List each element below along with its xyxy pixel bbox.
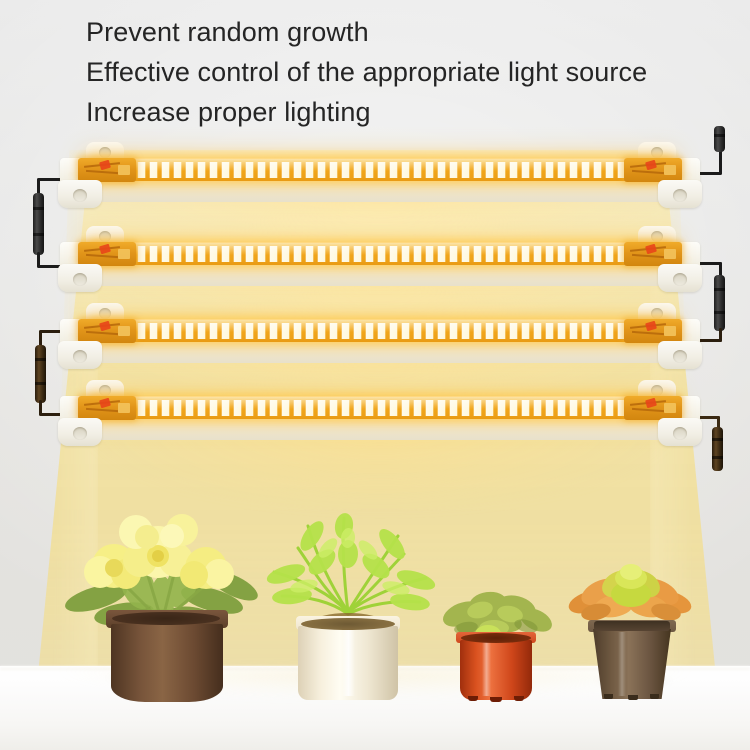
led-bar-1[interactable]	[60, 150, 700, 212]
plant-pot	[588, 620, 676, 702]
led-bar-4[interactable]	[60, 388, 700, 450]
led-bar-3[interactable]	[60, 311, 700, 373]
mount-tab-left	[58, 264, 102, 292]
headline-block: Prevent random growth Effective control …	[86, 12, 736, 132]
led-strip	[90, 320, 670, 342]
mount-tab-left	[58, 341, 102, 369]
plant-small-leafy	[436, 566, 556, 702]
end-cap-right	[624, 242, 682, 266]
mount-tab-left	[58, 180, 102, 208]
led-highlight	[90, 243, 670, 265]
led-highlight	[90, 159, 670, 181]
headline-line-3: Increase proper lighting	[86, 92, 736, 132]
mount-tab-right	[658, 180, 702, 208]
mount-tab-right	[658, 341, 702, 369]
led-highlight	[90, 320, 670, 342]
led-bar-2[interactable]	[60, 234, 700, 296]
led-strip	[90, 397, 670, 419]
mount-tab-right	[658, 264, 702, 292]
product-image: Prevent random growth Effective control …	[0, 0, 750, 750]
led-highlight	[90, 397, 670, 419]
led-strip	[90, 243, 670, 265]
end-cap-right	[624, 396, 682, 420]
mount-tab-left	[58, 418, 102, 446]
plant-pot	[456, 632, 536, 702]
headline-line-1: Prevent random growth	[86, 12, 736, 52]
headline-line-2: Effective control of the appropriate lig…	[86, 52, 736, 92]
end-cap-left	[78, 242, 136, 266]
plant-pot	[106, 610, 228, 702]
end-cap-left	[78, 319, 136, 343]
end-cap-left	[78, 158, 136, 182]
plant-yellow-flowering	[62, 490, 272, 700]
end-cap-left	[78, 396, 136, 420]
plant-succulent	[566, 552, 696, 702]
end-cap-right	[624, 319, 682, 343]
led-strip	[90, 159, 670, 181]
mount-tab-right	[658, 418, 702, 446]
plant-pot	[296, 616, 400, 700]
end-cap-right	[624, 158, 682, 182]
plant-green-fern	[258, 492, 438, 698]
